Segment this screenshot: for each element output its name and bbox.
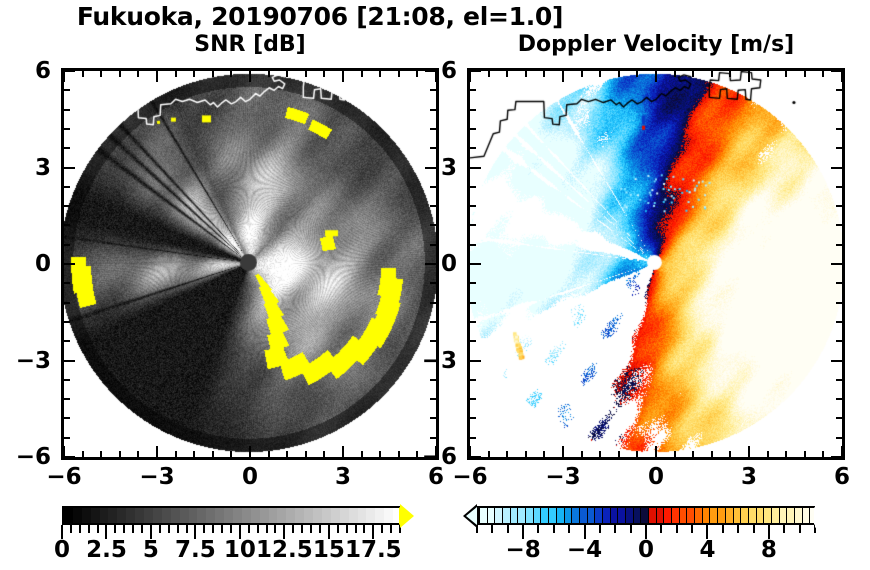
colorbar-cell-divider — [794, 508, 795, 523]
axis-tick — [470, 186, 476, 188]
x-axis-label: −3 — [545, 464, 580, 490]
axis-tick — [831, 360, 842, 362]
axis-tick — [729, 71, 731, 77]
colorbar-tick — [507, 525, 509, 533]
colorbar-cell-divider — [671, 508, 672, 523]
axis-tick — [836, 379, 842, 381]
axis-tick — [470, 437, 476, 439]
axis-tick — [430, 398, 436, 400]
colorbar-cell-divider — [679, 508, 680, 523]
colorbar-tick — [212, 525, 214, 533]
colorbar-tick — [177, 525, 179, 533]
axis-tick — [581, 451, 583, 457]
colorbar-tick — [88, 525, 90, 533]
axis-tick — [692, 451, 694, 457]
axis-tick — [525, 71, 527, 77]
colorbar-tick — [319, 525, 321, 533]
axis-tick — [230, 451, 232, 457]
axis-tick — [470, 456, 481, 458]
colorbar-label: 5 — [143, 537, 159, 563]
colorbar-tick — [257, 525, 259, 533]
axis-tick — [64, 263, 75, 265]
colorbar-tick — [337, 525, 339, 533]
axis-tick — [836, 147, 842, 149]
colorbar-over-arrow-fill — [399, 507, 410, 525]
colorbar-tick — [266, 525, 268, 533]
axis-tick — [804, 71, 806, 77]
axis-tick — [379, 451, 381, 457]
colorbar-cell-divider — [756, 508, 757, 523]
colorbar-tick — [248, 525, 250, 533]
colorbar-tick — [722, 525, 724, 533]
axis-tick — [599, 71, 601, 77]
axis-tick — [767, 71, 769, 77]
axis-tick — [836, 437, 842, 439]
axis-tick — [711, 71, 713, 77]
colorbar-label: 0 — [54, 537, 70, 563]
colorbar-cell-divider — [548, 508, 549, 523]
figure-title: Fukuoka, 20190706 [21:08, el=1.0] — [0, 2, 640, 31]
colorbar-cell-divider — [802, 508, 803, 523]
y-axis-label: 6 — [0, 58, 51, 84]
axis-tick — [193, 71, 195, 77]
colorbar-tick — [553, 525, 555, 533]
axis-tick — [430, 321, 436, 323]
colorbar-tick — [614, 525, 616, 533]
axis-tick — [506, 71, 508, 77]
colorbar-tick — [310, 525, 312, 533]
axis-tick — [64, 205, 70, 207]
axis-tick — [674, 71, 676, 77]
axis-tick — [470, 360, 481, 362]
colorbar-cell-divider — [510, 508, 511, 523]
y-axis-label: 0 — [0, 251, 51, 277]
colorbar-tick — [132, 525, 134, 533]
colorbar-tick — [141, 525, 143, 533]
colorbar-tick — [123, 525, 125, 533]
colorbar-tick — [783, 525, 785, 533]
y-axis-label: 3 — [405, 155, 457, 181]
axis-tick — [470, 147, 476, 149]
snr-panel-title: SNR [dB] — [61, 32, 439, 57]
axis-tick — [64, 186, 70, 188]
axis-tick — [831, 167, 842, 169]
axis-tick — [64, 302, 70, 304]
axis-tick — [361, 451, 363, 457]
axis-tick — [398, 451, 400, 457]
colorbar-tick — [186, 525, 188, 533]
colorbar-tick — [274, 525, 276, 533]
axis-tick — [470, 224, 476, 226]
axis-tick — [64, 417, 70, 419]
axis-tick — [470, 109, 476, 111]
axis-tick — [785, 451, 787, 457]
axis-tick — [430, 244, 436, 246]
axis-tick — [836, 321, 842, 323]
colorbar-cell-divider — [771, 508, 772, 523]
colorbar-label: 10 — [224, 537, 256, 563]
colorbar-cell-divider — [648, 508, 649, 523]
colorbar-label: 7.5 — [175, 537, 216, 563]
colorbar-tick — [301, 525, 303, 533]
axis-tick — [804, 451, 806, 457]
axis-tick — [361, 71, 363, 77]
axis-tick — [506, 451, 508, 457]
colorbar-tick — [537, 525, 539, 533]
y-axis-label: −3 — [405, 348, 457, 374]
colorbar-tick — [630, 525, 632, 533]
axis-tick — [64, 321, 70, 323]
axis-tick — [193, 451, 195, 457]
colorbar-tick — [381, 525, 383, 533]
axis-tick — [636, 451, 638, 457]
colorbar-tick — [676, 525, 678, 533]
colorbar-cell-divider — [717, 508, 718, 523]
axis-tick — [836, 224, 842, 226]
axis-tick — [831, 70, 842, 72]
axis-tick — [137, 71, 139, 77]
colorbar-cell-divider — [556, 508, 557, 523]
axis-tick — [470, 70, 481, 72]
axis-tick — [836, 417, 842, 419]
colorbar-tick — [203, 525, 205, 533]
y-axis-label: 3 — [0, 155, 51, 181]
axis-tick — [379, 71, 381, 77]
colorbar-tick — [753, 525, 755, 533]
axis-tick — [488, 451, 490, 457]
axis-tick — [156, 446, 158, 457]
colorbar-cell-divider — [656, 508, 657, 523]
y-axis-label: −6 — [405, 444, 457, 470]
axis-tick — [64, 456, 75, 458]
axis-tick — [82, 71, 84, 77]
colorbar-tick — [660, 525, 662, 533]
axis-tick — [249, 446, 251, 457]
figure-canvas: Fukuoka, 20190706 [21:08, el=1.0] SNR [d… — [0, 0, 870, 570]
colorbar-tick — [168, 525, 170, 533]
colorbar-cell-divider — [786, 508, 787, 523]
colorbar-cell-divider — [733, 508, 734, 523]
axis-tick — [64, 89, 70, 91]
colorbar-tick — [363, 525, 365, 533]
axis-tick — [470, 89, 476, 91]
axis-tick — [581, 71, 583, 77]
axis-tick — [729, 451, 731, 457]
axis-tick — [836, 340, 842, 342]
axis-tick — [430, 89, 436, 91]
axis-tick — [543, 451, 545, 457]
axis-tick — [543, 71, 545, 77]
axis-tick — [64, 340, 70, 342]
colorbar-label: 8 — [761, 537, 777, 563]
colorbar-tick — [70, 525, 72, 533]
axis-tick — [470, 417, 476, 419]
axis-tick — [268, 451, 270, 457]
axis-tick — [618, 71, 620, 77]
axis-tick — [430, 437, 436, 439]
colorbar-cell-divider — [633, 508, 634, 523]
colorbar-cell-divider — [809, 508, 810, 523]
axis-tick — [470, 167, 481, 169]
axis-tick — [836, 89, 842, 91]
colorbar-cell-divider — [533, 508, 534, 523]
colorbar-cell-divider — [594, 508, 595, 523]
axis-tick — [137, 451, 139, 457]
snr-colorbar[interactable] — [62, 506, 400, 525]
axis-tick — [430, 340, 436, 342]
colorbar-label: 15 — [313, 537, 345, 563]
axis-tick — [305, 451, 307, 457]
colorbar-cell-divider — [702, 508, 703, 523]
colorbar-over-arrow-fill — [814, 507, 825, 525]
y-axis-label: 0 — [405, 251, 457, 277]
x-axis-label: 0 — [648, 464, 664, 490]
colorbar-label: 0 — [638, 537, 654, 563]
axis-tick — [119, 451, 121, 457]
snr-plot-panel[interactable] — [61, 68, 439, 460]
colorbar-tick — [491, 525, 493, 533]
axis-tick — [836, 282, 842, 284]
axis-tick — [342, 446, 344, 457]
colorbar-cell-divider — [663, 508, 664, 523]
colorbar-label: 17.5 — [345, 537, 402, 563]
axis-tick — [470, 128, 476, 130]
axis-tick — [430, 109, 436, 111]
axis-tick — [470, 263, 481, 265]
colorbar-cell-divider — [709, 508, 710, 523]
colorbar-tick — [599, 525, 601, 533]
axis-tick — [305, 71, 307, 77]
axis-tick — [841, 71, 843, 82]
colorbar-cell-divider — [579, 508, 580, 523]
colorbar-cell-divider — [686, 508, 687, 523]
axis-tick — [470, 398, 476, 400]
axis-tick — [430, 205, 436, 207]
axis-tick — [286, 451, 288, 457]
colorbar-tick — [346, 525, 348, 533]
colorbar-cell-divider — [779, 508, 780, 523]
axis-tick — [692, 71, 694, 77]
axis-tick — [64, 437, 70, 439]
axis-tick — [430, 302, 436, 304]
axis-tick — [175, 451, 177, 457]
axis-tick — [655, 71, 657, 82]
doppler-panel-title: Doppler Velocity [m/s] — [467, 32, 845, 57]
y-axis-label: −6 — [0, 444, 51, 470]
axis-tick — [470, 321, 476, 323]
axis-tick — [82, 451, 84, 457]
axis-tick — [175, 71, 177, 77]
colorbar-cell-divider — [587, 508, 588, 523]
axis-tick — [822, 71, 824, 77]
colorbar-cell-divider — [494, 508, 495, 523]
axis-tick — [100, 71, 102, 77]
axis-tick — [64, 70, 75, 72]
colorbar-tick — [221, 525, 223, 533]
x-axis-label: −6 — [46, 464, 81, 490]
axis-tick — [711, 451, 713, 457]
colorbar-tick — [691, 525, 693, 533]
axis-tick — [470, 340, 476, 342]
axis-tick — [430, 417, 436, 419]
axis-tick — [249, 71, 251, 82]
colorbar-tick — [292, 525, 294, 533]
axis-tick — [398, 71, 400, 77]
colorbar-cell-divider — [625, 508, 626, 523]
axis-tick — [470, 282, 476, 284]
axis-tick — [119, 71, 121, 77]
colorbar-cell-divider — [517, 508, 518, 523]
colorbar-cell-divider — [725, 508, 726, 523]
x-axis-label: −3 — [139, 464, 174, 490]
axis-tick — [156, 71, 158, 82]
axis-tick — [323, 71, 325, 77]
x-axis-label: 0 — [242, 464, 258, 490]
colorbar-tick — [799, 525, 801, 533]
axis-tick — [655, 446, 657, 457]
axis-tick — [836, 109, 842, 111]
axis-tick — [64, 109, 70, 111]
colorbar-cell-divider — [571, 508, 572, 523]
axis-tick — [430, 379, 436, 381]
x-axis-label: −6 — [452, 464, 487, 490]
axis-tick — [767, 451, 769, 457]
axis-tick — [64, 147, 70, 149]
x-axis-label: 6 — [834, 464, 850, 490]
doppler-radar-image — [470, 71, 842, 457]
colorbar-under-arrow-fill — [466, 507, 477, 525]
colorbar-cell-divider — [617, 508, 618, 523]
colorbar-tick — [79, 525, 81, 533]
colorbar-cell-divider — [525, 508, 526, 523]
axis-tick — [212, 71, 214, 77]
colorbar-cell-divider — [540, 508, 541, 523]
colorbar-cell-divider — [740, 508, 741, 523]
colorbar-label: 12.5 — [256, 537, 313, 563]
axis-tick — [100, 451, 102, 457]
axis-tick — [64, 244, 70, 246]
axis-tick — [469, 71, 471, 82]
y-axis-label: −3 — [0, 348, 51, 374]
colorbar-cell-divider — [640, 508, 641, 523]
colorbar-cell-divider — [602, 508, 603, 523]
axis-tick — [748, 446, 750, 457]
snr-radar-image — [64, 71, 436, 457]
axis-tick — [748, 71, 750, 82]
colorbar-label: −4 — [567, 537, 602, 563]
axis-tick — [618, 451, 620, 457]
axis-tick — [822, 451, 824, 457]
colorbar-tick — [355, 525, 357, 533]
axis-tick — [836, 302, 842, 304]
axis-tick — [488, 71, 490, 77]
colorbar-cell-divider — [502, 508, 503, 523]
axis-tick — [286, 71, 288, 77]
colorbar-cell-divider — [763, 508, 764, 523]
axis-tick — [230, 71, 232, 77]
colorbar-cell-divider — [694, 508, 695, 523]
axis-tick — [64, 360, 75, 362]
axis-tick — [562, 71, 564, 82]
colorbar-cell-divider — [487, 508, 488, 523]
colorbar-label: 2.5 — [86, 537, 127, 563]
colorbar-cell-divider — [748, 508, 749, 523]
axis-tick — [470, 244, 476, 246]
axis-tick — [836, 205, 842, 207]
axis-tick — [64, 224, 70, 226]
axis-tick — [562, 446, 564, 457]
colorbar-cell-divider — [479, 508, 480, 523]
axis-tick — [64, 167, 75, 169]
axis-tick — [836, 128, 842, 130]
doppler-colorbar[interactable] — [477, 506, 815, 525]
axis-tick — [64, 282, 70, 284]
x-axis-label: 3 — [741, 464, 757, 490]
axis-tick — [470, 379, 476, 381]
axis-tick — [636, 71, 638, 77]
axis-tick — [430, 186, 436, 188]
axis-tick — [64, 128, 70, 130]
colorbar-tick — [97, 525, 99, 533]
x-axis-label: 3 — [335, 464, 351, 490]
axis-tick — [525, 451, 527, 457]
axis-tick — [841, 446, 843, 457]
axis-tick — [831, 263, 842, 265]
axis-tick — [64, 379, 70, 381]
colorbar-tick — [230, 525, 232, 533]
axis-tick — [470, 205, 476, 207]
colorbar-tick — [114, 525, 116, 533]
colorbar-cell-divider — [564, 508, 565, 523]
colorbar-cell-divider — [610, 508, 611, 523]
colorbar-tick — [568, 525, 570, 533]
axis-tick — [470, 302, 476, 304]
axis-tick — [430, 224, 436, 226]
colorbar-label: −8 — [505, 537, 540, 563]
axis-tick — [63, 71, 65, 82]
axis-tick — [64, 398, 70, 400]
axis-tick — [342, 71, 344, 82]
axis-tick — [268, 71, 270, 77]
axis-tick — [674, 451, 676, 457]
axis-tick — [430, 128, 436, 130]
axis-tick — [323, 451, 325, 457]
doppler-plot-panel[interactable] — [467, 68, 845, 460]
axis-tick — [430, 147, 436, 149]
axis-tick — [836, 186, 842, 188]
colorbar-label: 4 — [699, 537, 715, 563]
axis-tick — [785, 71, 787, 77]
y-axis-label: 6 — [405, 58, 457, 84]
axis-tick — [212, 451, 214, 457]
colorbar-tick — [737, 525, 739, 533]
colorbar-tick — [390, 525, 392, 533]
colorbar-tick — [159, 525, 161, 533]
axis-tick — [599, 451, 601, 457]
axis-tick — [836, 398, 842, 400]
axis-tick — [836, 244, 842, 246]
axis-tick — [430, 282, 436, 284]
